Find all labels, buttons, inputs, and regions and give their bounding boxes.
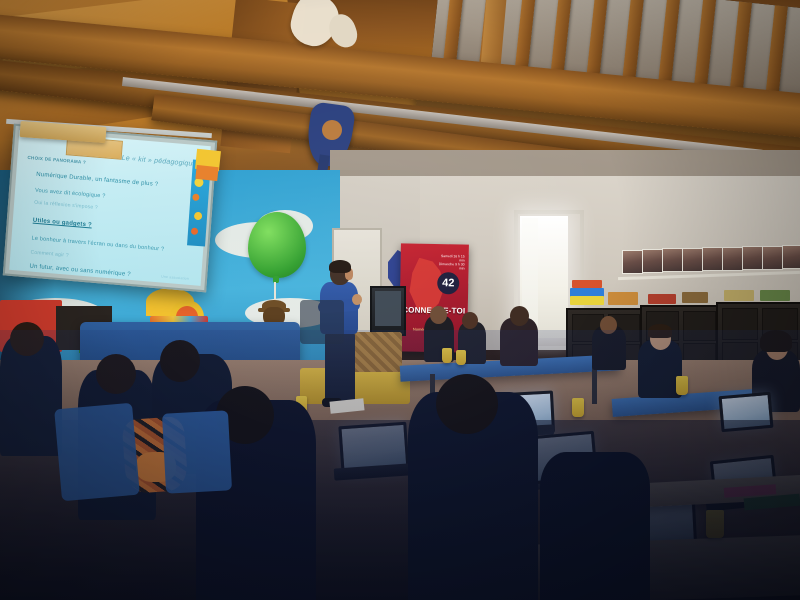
slide-bullet-6: Comment agir ?: [30, 250, 69, 259]
attendee-head: [96, 354, 136, 394]
wall-photo: [762, 246, 783, 270]
wall-photo: [782, 245, 800, 269]
board-game-box: [682, 292, 708, 303]
hanging-decoration-head-icon: [322, 120, 342, 140]
attendee-head: [160, 340, 200, 382]
mural-balloon-icon: [248, 212, 306, 278]
slide-title: Le « kit » pédagogique: [121, 155, 197, 168]
projection-screen: CHOIX DE PANORAMA ? Le « kit » pédagogiq…: [3, 124, 217, 293]
photo-scene: CHOIX DE PANORAMA ? Le « kit » pédagogiq…: [0, 0, 800, 600]
table-leg: [592, 366, 597, 404]
board-game-box: [724, 290, 754, 301]
wall-photo: [662, 248, 683, 272]
wall-photo: [622, 250, 643, 274]
board-game-box: [570, 296, 604, 305]
attendee: [540, 452, 650, 600]
slide-bullet-5: Le bonheur à travers l'écran ou dans du …: [31, 236, 164, 253]
wall-shadow: [330, 150, 800, 176]
poster-line-2: Dimanche 9 h 30 min: [436, 262, 464, 270]
wall-photo: [642, 249, 663, 273]
presenter-hand: [352, 294, 362, 305]
slide-bullet-1: Numérique Durable, un fantasme de plus ?: [36, 172, 158, 188]
wall-photo: [722, 247, 743, 271]
attendee-head: [510, 306, 529, 326]
wall-photo: [702, 247, 723, 271]
yellow-cup[interactable]: [572, 398, 584, 417]
slide-bullet-4: Utiles ou gadgets ?: [33, 218, 92, 229]
banner-orange-block: [195, 165, 218, 181]
attendee-head: [436, 374, 498, 434]
chair-back[interactable]: [162, 410, 232, 493]
yellow-cup[interactable]: [456, 350, 466, 365]
board-game-box: [760, 290, 790, 301]
yellow-cup[interactable]: [676, 376, 688, 395]
slide-kicker: CHOIX DE PANORAMA ?: [27, 155, 86, 165]
slide-bullet-7: Un futur, avec ou sans numérique ?: [29, 263, 131, 277]
chair-back[interactable]: [300, 300, 344, 344]
board-game-box: [648, 294, 676, 304]
attendee-head: [430, 306, 447, 324]
wall-photo: [742, 246, 763, 270]
attendee-head: [462, 312, 478, 329]
poster-number-badge: 42: [437, 272, 459, 294]
presenter-hair: [329, 260, 351, 273]
slide-bullet-2: Vous avez dit écologique ?: [35, 188, 106, 200]
slide-bullet-3: Oui la réflexion s'impose ?: [34, 200, 98, 211]
attendee-hair: [648, 324, 672, 338]
chair-back[interactable]: [54, 403, 140, 501]
wicker-basket: [348, 332, 402, 372]
monitor: [370, 286, 406, 336]
board-game-box: [608, 292, 638, 305]
attendee-head: [10, 322, 44, 356]
slide-footer: Une association: [161, 275, 189, 281]
attendee-head: [600, 316, 617, 334]
yellow-cup[interactable]: [442, 348, 452, 363]
board-game-box: [572, 280, 602, 288]
attendee-hair: [760, 330, 792, 352]
wall-photo: [682, 248, 703, 272]
